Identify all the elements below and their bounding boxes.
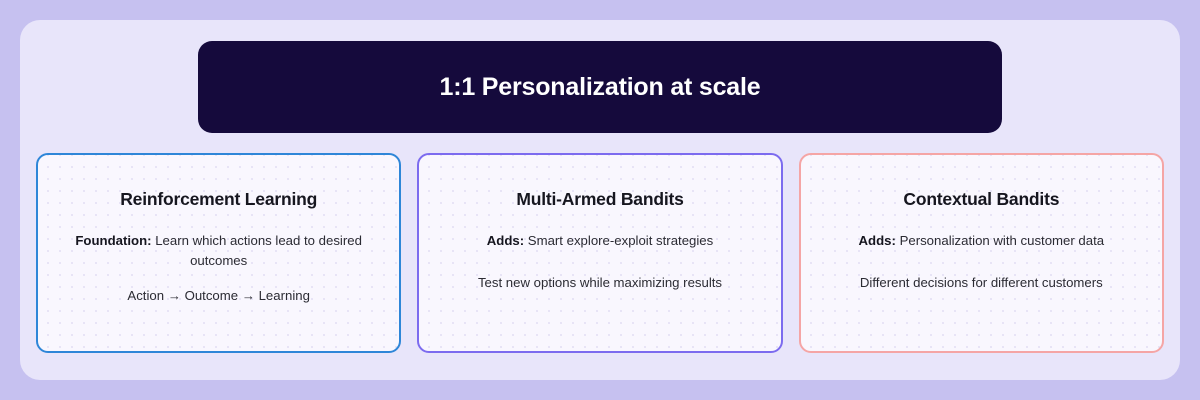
card-primary-line: Foundation: Learn which actions lead to … [69,231,369,271]
concept-cards-row: Reinforcement Learning Foundation: Learn… [36,153,1164,353]
card-primary-text: Smart explore-exploit strategies [524,233,713,248]
header-banner: 1:1 Personalization at scale [198,41,1002,133]
card-secondary-line: Different decisions for different custom… [860,273,1103,293]
card-primary-line: Adds: Personalization with customer data [859,231,1105,251]
card-reinforcement-learning: Reinforcement Learning Foundation: Learn… [36,153,401,353]
card-title: Reinforcement Learning [120,189,317,211]
card-primary-lead: Foundation: [75,233,151,248]
card-primary-lead: Adds: [487,233,524,248]
card-contextual-bandits: Contextual Bandits Adds: Personalization… [799,153,1164,353]
card-title: Multi-Armed Bandits [516,189,683,211]
card-primary-text: Personalization with customer data [896,233,1104,248]
card-primary-lead: Adds: [859,233,896,248]
card-secondary-line: Action → Outcome → Learning [127,286,310,306]
slide-panel: 1:1 Personalization at scale Reinforceme… [20,20,1180,380]
card-primary-line: Adds: Smart explore-exploit strategies [487,231,713,251]
card-title: Contextual Bandits [903,189,1059,211]
card-secondary-line: Test new options while maximizing result… [478,273,722,293]
card-multi-armed-bandits: Multi-Armed Bandits Adds: Smart explore-… [417,153,782,353]
card-primary-text: Learn which actions lead to desired outc… [152,233,362,268]
page-title: 1:1 Personalization at scale [440,72,761,102]
